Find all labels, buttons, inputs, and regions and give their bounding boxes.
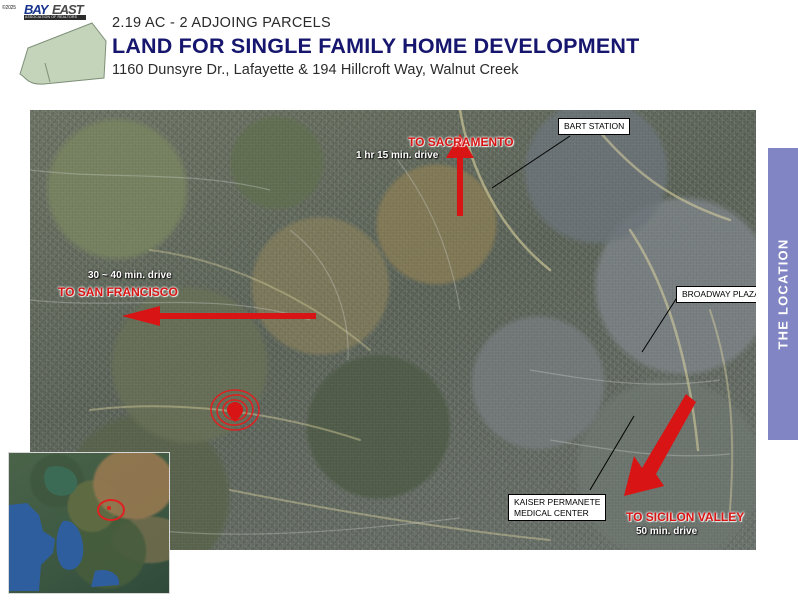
callout-kaiser-line-2: MEDICAL CENTER bbox=[514, 508, 600, 519]
callout-kaiser-permanente: KAISER PERMANETE MEDICAL CENTER bbox=[508, 494, 606, 521]
parcel-outline-graphic bbox=[14, 18, 114, 90]
address-subtitle: 1160 Dunsyre Dr., Lafayette & 194 Hillcr… bbox=[112, 61, 639, 80]
title-block: 2.19 AC - 2 ADJOING PARCELS LAND FOR SIN… bbox=[112, 14, 639, 80]
regional-overview-inset-map[interactable] bbox=[8, 452, 170, 594]
label-to-silicon-valley: TO SICILON VALLEY bbox=[626, 510, 744, 524]
section-tab-the-location[interactable]: THE LOCATION bbox=[768, 148, 798, 440]
callout-kaiser-line-1: KAISER PERMANETE bbox=[514, 497, 600, 508]
section-tab-label: THE LOCATION bbox=[776, 239, 791, 350]
inset-property-ring-marker bbox=[97, 499, 125, 521]
callout-broadway-plaza: BROADWAY PLAZA bbox=[676, 286, 756, 303]
label-sacramento-drive-time: 1 hr 15 min. drive bbox=[356, 150, 438, 161]
eyebrow-text: 2.19 AC - 2 ADJOING PARCELS bbox=[112, 14, 639, 32]
inset-bay-water bbox=[9, 453, 169, 593]
inset-property-dot-marker bbox=[107, 506, 111, 510]
header-banner: ©2025 BAY EAST ASSOCIATION OF REALTORS 2… bbox=[0, 0, 798, 100]
label-to-san-francisco: TO SAN FRANCISCO bbox=[58, 285, 178, 299]
logo-copyright: ©2025 bbox=[2, 5, 16, 11]
label-to-sacramento: TO SACRAMENTO bbox=[408, 135, 514, 149]
label-silicon-valley-drive-time: 50 min. drive bbox=[636, 526, 697, 537]
page-title: LAND FOR SINGLE FAMILY HOME DEVELOPMENT bbox=[112, 33, 639, 60]
callout-bart-station: BART STATION bbox=[558, 118, 630, 135]
label-san-francisco-drive-time: 30 ~ 40 min. drive bbox=[88, 270, 172, 281]
